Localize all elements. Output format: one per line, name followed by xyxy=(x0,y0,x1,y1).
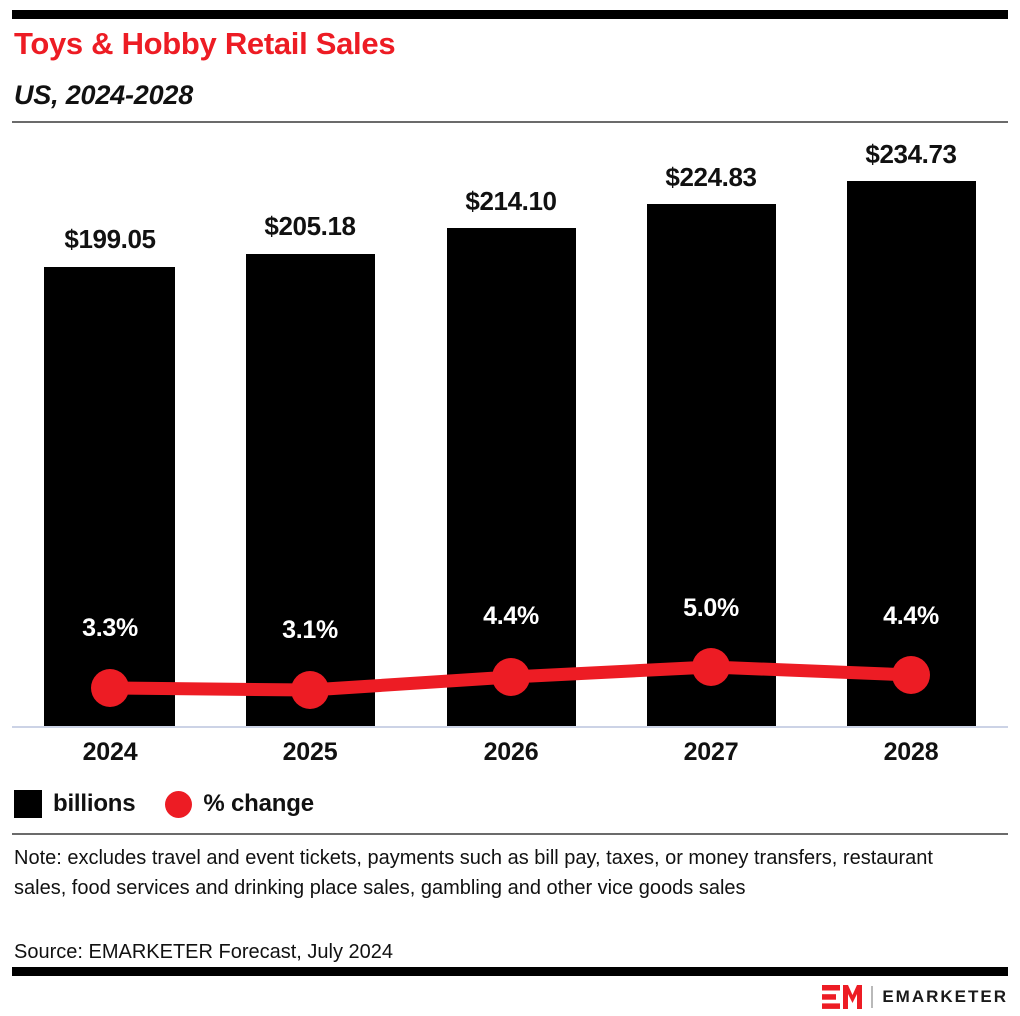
chart-page: Toys & Hobby Retail Sales US, 2024-2028 … xyxy=(0,0,1020,1016)
legend-item-billions: billions xyxy=(14,790,135,818)
bar-2027 xyxy=(647,204,776,727)
x-tick-2026: 2026 xyxy=(431,738,591,767)
x-tick-2028: 2028 xyxy=(831,738,991,767)
header-divider xyxy=(12,121,1008,123)
bar-2024 xyxy=(44,267,175,727)
x-tick-2027: 2027 xyxy=(631,738,791,767)
circle-swatch-icon xyxy=(165,791,192,818)
pct-marker-2025 xyxy=(291,671,329,709)
top-rule xyxy=(12,10,1008,19)
bar-value-2025: $205.18 xyxy=(230,211,390,242)
pct-change-line xyxy=(110,667,911,690)
x-axis-line xyxy=(12,726,1008,728)
x-tick-2024: 2024 xyxy=(30,738,190,767)
chart-source: Source: EMARKETER Forecast, July 2024 xyxy=(14,938,393,966)
notes-divider xyxy=(12,833,1008,835)
square-swatch-icon xyxy=(14,790,42,818)
pct-label-2024: 3.3% xyxy=(30,614,190,643)
bar-2025 xyxy=(246,254,375,727)
brand-wordmark: EMARKETER xyxy=(882,987,1008,1007)
footer-rule xyxy=(12,967,1008,976)
pct-marker-2026 xyxy=(492,658,530,696)
pct-label-2028: 4.4% xyxy=(831,602,991,631)
legend-label-billions: billions xyxy=(53,790,135,818)
legend-label-pct-change: % change xyxy=(203,790,313,818)
pct-marker-2027 xyxy=(692,648,730,686)
page-subtitle: US, 2024-2028 xyxy=(14,80,193,111)
bar-2026 xyxy=(447,228,576,727)
brand-separator xyxy=(871,986,873,1008)
bar-value-2024: $199.05 xyxy=(30,224,190,255)
pct-marker-2028 xyxy=(892,656,930,694)
pct-label-2027: 5.0% xyxy=(631,594,791,623)
chart-legend: billions % change xyxy=(14,790,314,818)
chart-note: Note: excludes travel and event tickets,… xyxy=(14,843,944,903)
bar-value-2026: $214.10 xyxy=(431,186,591,217)
x-tick-2025: 2025 xyxy=(230,738,390,767)
legend-item-pct-change: % change xyxy=(165,790,313,818)
page-title: Toys & Hobby Retail Sales xyxy=(14,26,395,62)
pct-label-2026: 4.4% xyxy=(431,602,591,631)
bar-value-2027: $224.83 xyxy=(631,162,791,193)
brand-logo: EMARKETER xyxy=(822,984,1008,1010)
bar-2028 xyxy=(847,181,976,727)
pct-label-2025: 3.1% xyxy=(230,616,390,645)
bar-value-2028: $234.73 xyxy=(831,139,991,170)
pct-marker-2024 xyxy=(91,669,129,707)
emarketer-mark-icon xyxy=(822,984,862,1010)
